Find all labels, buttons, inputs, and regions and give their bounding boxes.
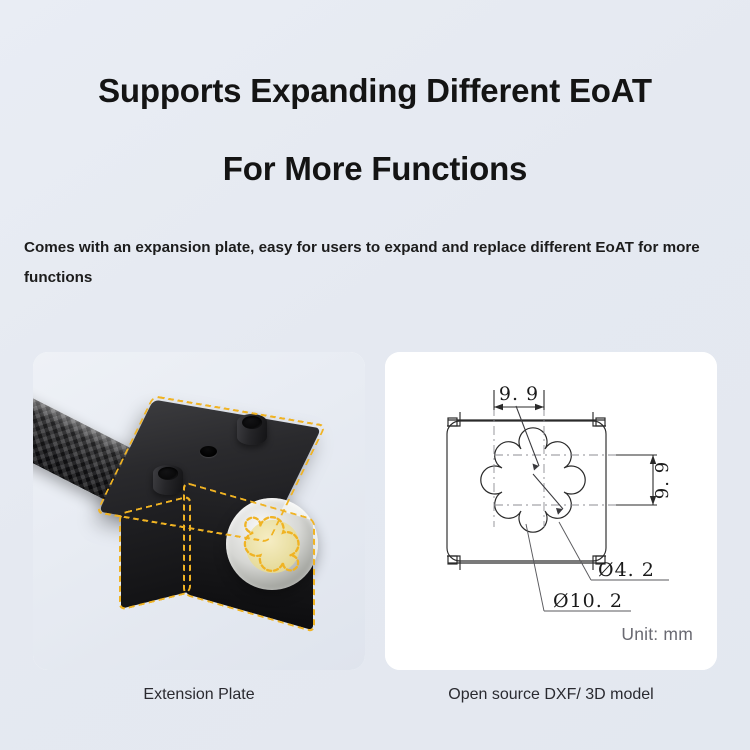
product-photo [33,352,365,670]
extension-plate-side-face [121,495,191,608]
large-bore-label: Ø10. 2 [553,590,623,612]
small-bore-label: Ø4. 2 [598,559,655,581]
center-mounting-hole [200,446,217,457]
mounting-tab [448,418,605,564]
center-lines [494,407,616,527]
panel-row: 9. 9 9. 9 Ø4. 2 Ø10. [0,352,750,670]
clover-cutout [481,428,585,532]
clover-highlight-icon [243,515,301,573]
page-subtitle: Comes with an expansion plate, easy for … [24,233,724,294]
bore-pointer-arrows [516,406,563,515]
suction-cup-end-effector [226,498,318,590]
standoff-post-left [153,465,183,495]
technical-drawing: 9. 9 9. 9 Ø4. 2 Ø10. [385,352,717,670]
unit-label: Unit: mm [621,624,693,644]
extension-plate-photo-card [33,352,365,670]
standoff-bore-icon [242,416,262,429]
dimension-vertical-label: 9. 9 [652,461,673,499]
dxf-drawing-card: 9. 9 9. 9 Ø4. 2 Ø10. [385,352,717,670]
standoff-bore-icon [158,467,178,480]
standoff-post-right [237,414,267,445]
plate-outline [447,412,606,570]
page-title-line-1: Supports Expanding Different EoAT [0,74,750,107]
dimension-horizontal-label: 9. 9 [499,383,539,405]
page-header: Supports Expanding Different EoAT For Mo… [0,0,750,294]
caption-row: Extension Plate Open source DXF/ 3D mode… [0,686,750,726]
top-bottom-edge [448,420,605,563]
page-title-line-2: For More Functions [0,152,750,185]
caption-dxf-model: Open source DXF/ 3D model [385,686,717,704]
dimension-vertical [616,455,657,505]
caption-extension-plate: Extension Plate [33,686,365,704]
